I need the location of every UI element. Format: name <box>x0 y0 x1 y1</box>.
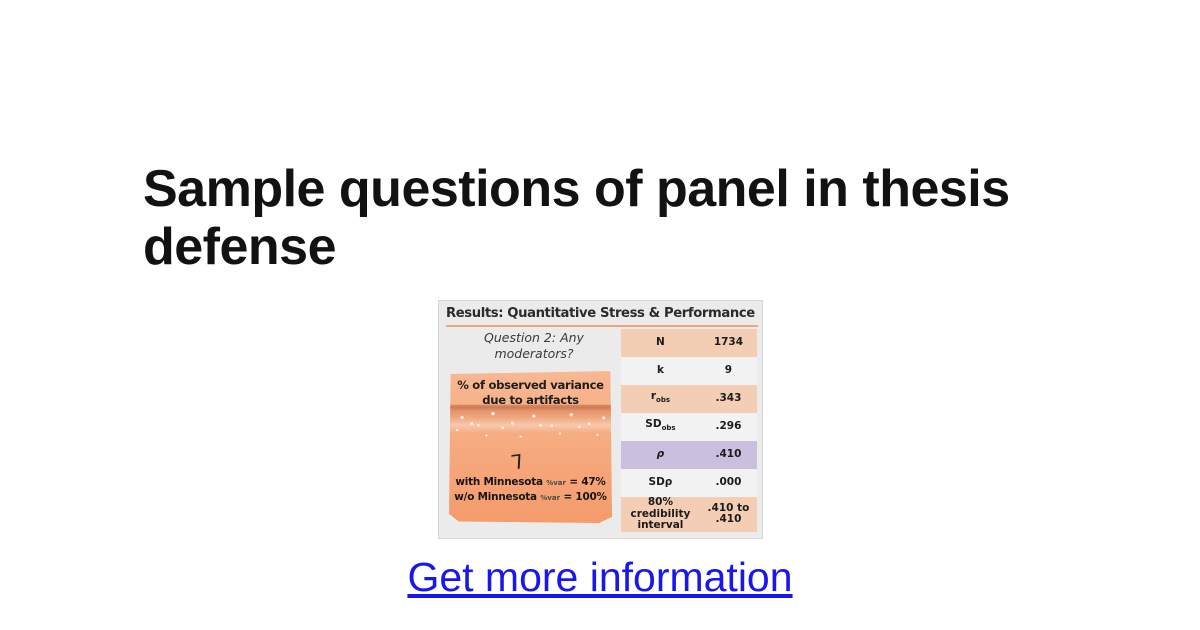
slide-question-text: Question 2: Any moderators? <box>449 330 619 362</box>
table-row: SDρ.000 <box>621 469 757 497</box>
table-row: 80% credibility interval.410 to .410 <box>621 497 757 532</box>
table-cell-value: 1734 <box>700 329 757 357</box>
table-cell-value: .000 <box>700 469 757 497</box>
table-cell-label: 80% credibility interval <box>621 497 700 532</box>
variance-card-stats: with Minnesota %var = 47% w/o Minnesota … <box>454 475 607 505</box>
variance-card: % of observed variance due to artifacts … <box>449 371 612 523</box>
table-cell-value: .343 <box>700 385 757 413</box>
table-cell-label-subscript: obs <box>662 424 676 432</box>
table-cell-label: N <box>621 329 700 357</box>
table-cell-label: k <box>621 357 700 385</box>
page-title: Sample questions of panel in thesis defe… <box>143 160 1043 276</box>
variance-stat-with: with Minnesota %var = 47% <box>454 475 607 490</box>
table-row: SDobs.296 <box>621 413 757 441</box>
table-cell-label: SDρ <box>621 469 700 497</box>
table-cell-value: .410 <box>700 441 757 469</box>
slide-thumbnail-image[interactable]: Results: Quantitative Stress & Performan… <box>438 300 763 539</box>
table-cell-label: robs <box>621 385 700 413</box>
variance-stat-without: w/o Minnesota %var = 100% <box>454 490 607 505</box>
table-row: N1734 <box>621 329 757 357</box>
table-cell-label: SDobs <box>621 413 700 441</box>
get-more-information-link[interactable]: Get more information <box>0 553 1200 601</box>
table-cell-label-subscript: obs <box>656 396 670 404</box>
variance-stat-without-value: = 100% <box>563 491 606 503</box>
table-row: ρ.410 <box>621 441 757 469</box>
handwritten-glyph-icon: ⅂ <box>509 449 523 474</box>
table-cell-value: .410 to .410 <box>700 497 757 532</box>
slide-header-divider <box>446 325 758 327</box>
table-row: k9 <box>621 357 757 385</box>
variance-stat-with-value: = 47% <box>569 476 605 488</box>
variance-stat-with-subscript: %var <box>546 479 566 487</box>
table-cell-value: .296 <box>700 413 757 441</box>
variance-stat-without-subscript: %var <box>540 494 560 502</box>
variance-stat-with-label: with Minnesota <box>455 476 542 488</box>
results-stats-table: N1734k9robs.343SDobs.296ρ.410SDρ.00080% … <box>621 329 757 532</box>
table-cell-label: ρ <box>621 441 700 469</box>
table-row: robs.343 <box>621 385 757 413</box>
page-canvas: Sample questions of panel in thesis defe… <box>0 0 1200 630</box>
variance-card-heading: % of observed variance due to artifacts <box>455 378 606 407</box>
slide-header-title: Results: Quantitative Stress & Performan… <box>446 306 757 321</box>
results-stats-table-body: N1734k9robs.343SDobs.296ρ.410SDρ.00080% … <box>621 329 757 532</box>
table-cell-value: 9 <box>700 357 757 385</box>
water-foam-decoration <box>449 419 612 441</box>
variance-stat-without-label: w/o Minnesota <box>454 491 537 503</box>
